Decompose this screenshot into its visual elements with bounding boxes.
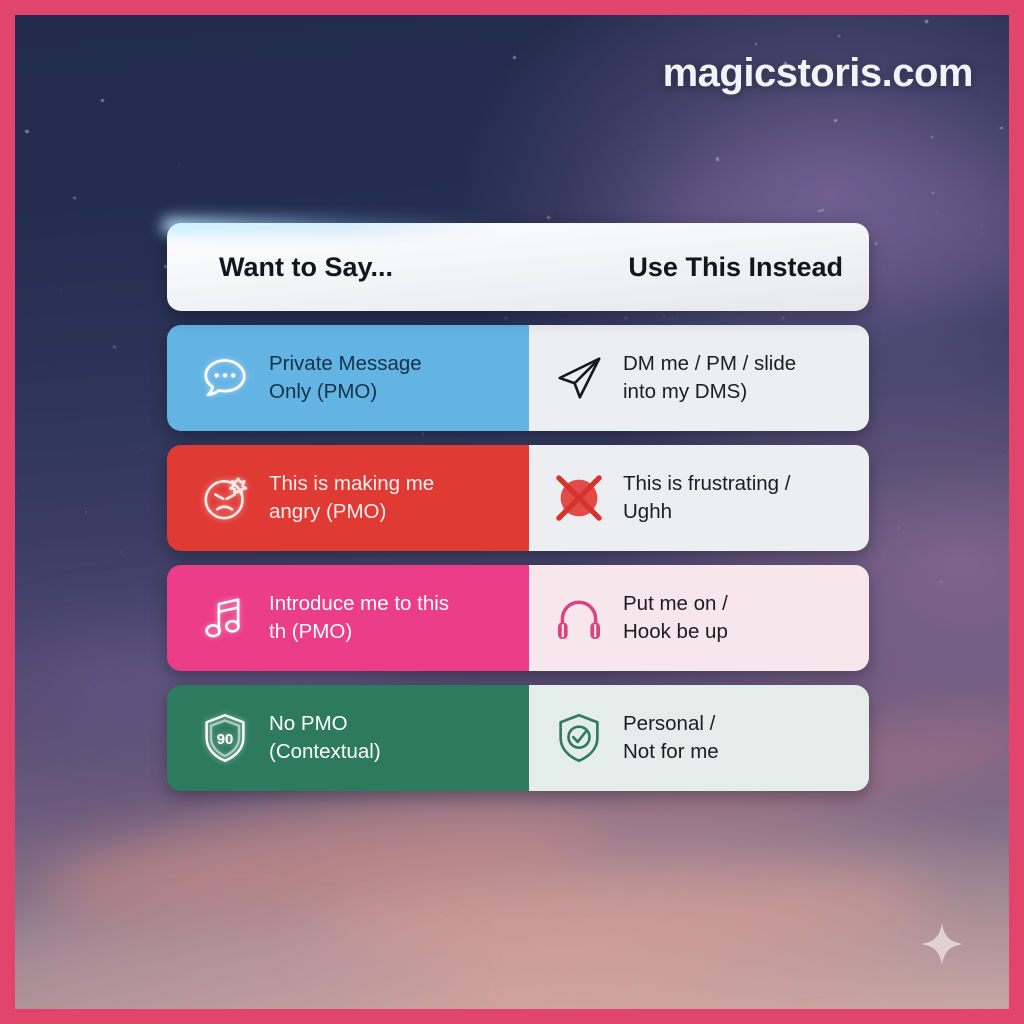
shield-check-icon [551, 710, 607, 766]
star-dot [821, 209, 824, 212]
table-row[interactable]: Private Message Only (PMO) DM me / PM / … [167, 325, 869, 431]
star-dot [937, 212, 938, 213]
row-right-cell: This is frustrating / Ughh [529, 445, 869, 551]
star-dot [982, 234, 983, 235]
star-dot [925, 20, 928, 23]
header-use-this-instead: Use This Instead [542, 252, 869, 283]
star-dot [101, 99, 104, 102]
cloud-streak [15, 929, 452, 1009]
comparison-table: Want to Say... Use This Instead [167, 223, 869, 791]
star-dot [25, 130, 28, 133]
header-want-to-say: Want to Say... [167, 252, 542, 283]
table-row[interactable]: Introduce me to this th (PMO) [167, 565, 869, 671]
row-right-cell: Put me on / Hook be up [529, 565, 869, 671]
star-dot [716, 157, 719, 160]
row-left-text: This is making me angry (PMO) [269, 470, 434, 527]
angry-face-icon [197, 470, 253, 526]
pink-border-frame: magicstoris.com Want to Say... Use This … [0, 0, 1024, 1024]
star-dot [931, 136, 933, 138]
music-note-icon [197, 590, 253, 646]
star-dot [120, 551, 121, 552]
star-dot [898, 527, 900, 529]
row-left-cell: This is making me angry (PMO) [167, 445, 529, 551]
speech-bubble-dots-icon [197, 350, 253, 406]
star-dot [142, 448, 143, 449]
sunset-sky-background: magicstoris.com Want to Say... Use This … [15, 15, 1009, 1009]
row-left-cell: Introduce me to this th (PMO) [167, 565, 529, 671]
paper-plane-icon [551, 350, 607, 406]
site-watermark: magicstoris.com [663, 51, 973, 96]
table-row[interactable]: This is making me angry (PMO) This is fr… [167, 445, 869, 551]
row-right-text: Put me on / Hook be up [623, 590, 728, 647]
crossed-out-circle-icon [551, 470, 607, 526]
star-dot [1003, 455, 1004, 456]
star-dot [179, 165, 180, 166]
star-dot [755, 43, 757, 45]
row-left-text: Introduce me to this th (PMO) [269, 590, 449, 647]
star-dot [834, 119, 837, 122]
shield-90-icon: 90 [197, 710, 253, 766]
row-right-text: DM me / PM / slide into my DMS) [623, 350, 796, 407]
cloud-streak [311, 854, 931, 976]
star-dot [60, 290, 61, 291]
star-dot [1000, 127, 1002, 129]
row-left-cell: Private Message Only (PMO) [167, 325, 529, 431]
star-dot [85, 511, 87, 513]
sparkle-icon [919, 921, 965, 967]
row-right-text: This is frustrating / Ughh [623, 470, 790, 527]
row-right-cell: Personal / Not for me [529, 685, 869, 791]
star-dot [73, 197, 75, 199]
star-dot [981, 225, 983, 227]
shield-badge-number: 90 [217, 732, 234, 748]
star-dot [547, 216, 550, 219]
star-dot [940, 580, 943, 583]
row-left-text: Private Message Only (PMO) [269, 350, 422, 407]
star-dot [513, 56, 516, 59]
star-dot [932, 192, 935, 195]
row-left-cell: 90 No PMO (Contextual) [167, 685, 529, 791]
star-dot [113, 346, 116, 349]
table-row[interactable]: 90 No PMO (Contextual) [167, 685, 869, 791]
headphones-icon [551, 590, 607, 646]
cloud-streak [31, 780, 615, 939]
table-header-row: Want to Say... Use This Instead [167, 223, 869, 311]
row-left-text: No PMO (Contextual) [269, 710, 381, 767]
row-right-cell: DM me / PM / slide into my DMS) [529, 325, 869, 431]
row-right-text: Personal / Not for me [623, 710, 719, 767]
star-dot [838, 35, 840, 37]
star-dot [875, 242, 878, 245]
star-dot [16, 493, 17, 494]
